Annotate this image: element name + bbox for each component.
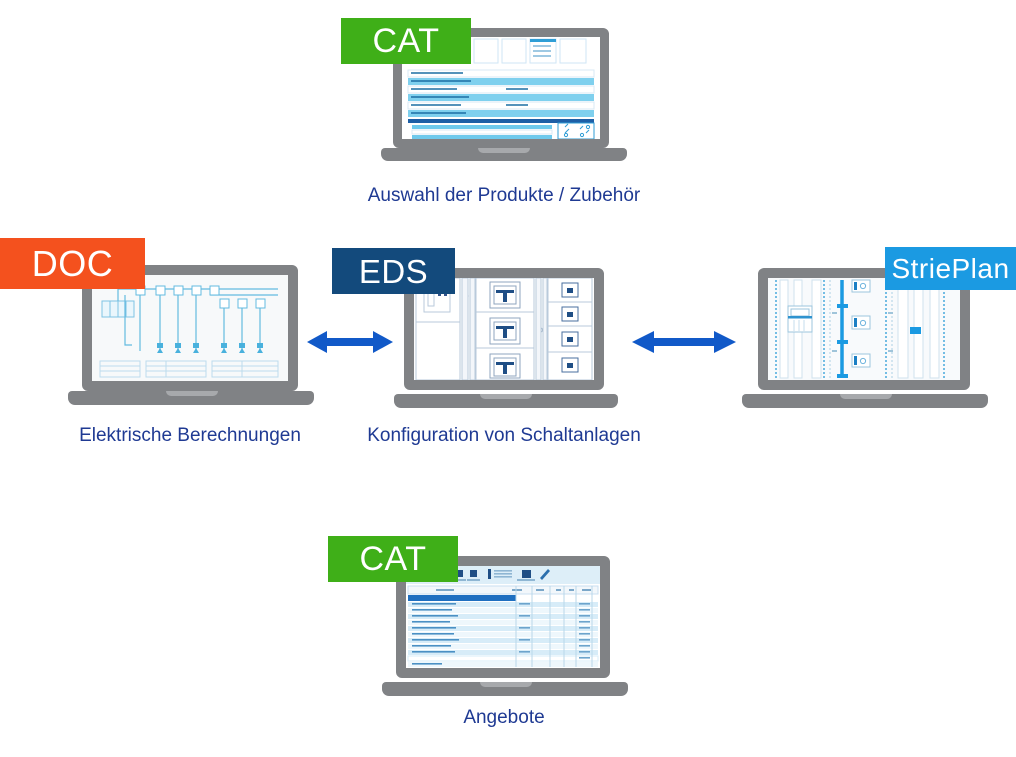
laptop-notch [840, 394, 892, 399]
node-left-doc[interactable]: DOC [68, 265, 314, 411]
bidirectional-arrow-icon [305, 323, 395, 361]
bidirectional-arrow-icon [630, 323, 738, 361]
laptop-notch [166, 391, 218, 396]
laptop-notch [478, 148, 530, 153]
caption-center: Konfiguration von Schaltanlagen [354, 425, 654, 447]
laptop-screen-right [768, 278, 960, 380]
arrow-doc-to-eds [305, 323, 395, 361]
badge-doc[interactable]: DOC [0, 238, 145, 289]
caption-top: Auswahl der Produkte / Zubehör [354, 185, 654, 207]
node-bottom-cat[interactable]: CAT [382, 556, 628, 698]
badge-cat-bottom[interactable]: CAT [328, 536, 458, 582]
caption-left: Elektrische Berechnungen [40, 425, 340, 447]
badge-eds[interactable]: EDS [332, 248, 455, 294]
arrow-eds-to-strieplan [630, 323, 738, 361]
node-center-eds[interactable]: EDS [394, 268, 618, 410]
badge-strieplan[interactable]: StriePlan [885, 247, 1016, 290]
laptop-screen-left [92, 275, 288, 381]
rack-layout-art [768, 278, 960, 380]
diagram-canvas: CAT Auswahl der Produkte / Zubehör [0, 0, 1016, 757]
badge-cat-top[interactable]: CAT [341, 18, 471, 64]
node-right-strieplan[interactable]: StriePlan [742, 268, 988, 410]
single-line-diagram-art [92, 275, 288, 381]
laptop-notch [480, 682, 532, 687]
caption-bottom: Angebote [404, 707, 604, 729]
laptop-notch [480, 394, 532, 399]
node-top-cat[interactable]: CAT [381, 28, 627, 166]
